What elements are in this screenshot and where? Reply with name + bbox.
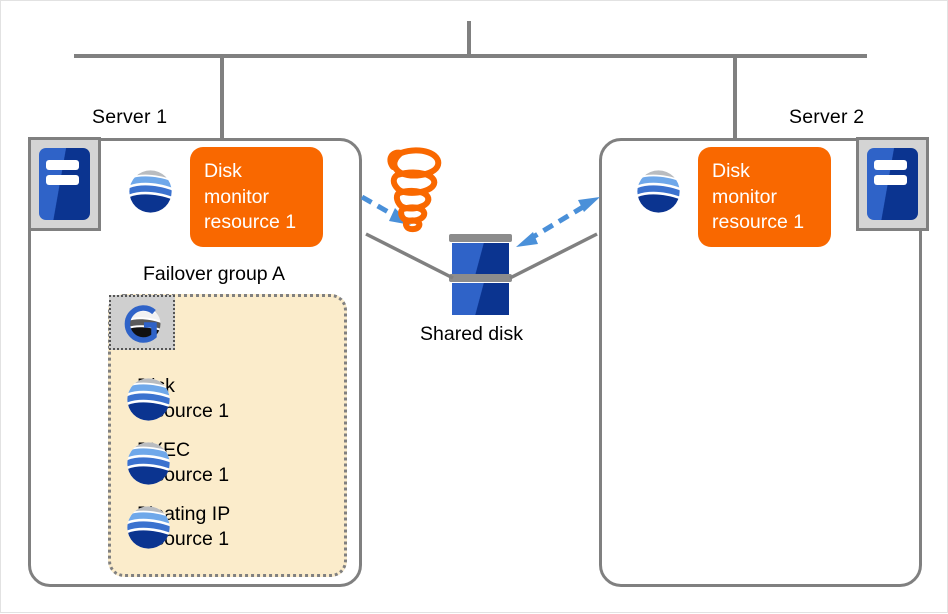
network-bus-uplink xyxy=(467,21,471,56)
disk-monitor-resource-pill[interactable]: Disk monitor resource 1 xyxy=(698,147,831,247)
globe-icon xyxy=(126,441,171,486)
server-slot-bar xyxy=(46,175,80,186)
server-1-label: Server 1 xyxy=(92,106,167,129)
list-item[interactable]: Disk resource 1 xyxy=(126,374,229,424)
globe-icon xyxy=(126,505,171,550)
server-slot-bar xyxy=(874,175,908,186)
server-slot-bar xyxy=(874,160,908,171)
access-arrow xyxy=(516,197,600,247)
disk-cable-server1 xyxy=(366,234,453,278)
server-slot-bar xyxy=(46,160,80,171)
tornado-icon xyxy=(390,150,438,229)
server-icon xyxy=(28,137,101,231)
server-2-label: Server 2 xyxy=(789,106,864,129)
failure-arrow xyxy=(362,197,411,225)
list-item[interactable]: Floating IP resource 1 xyxy=(126,502,230,552)
globe-icon xyxy=(128,169,173,214)
disk-cap xyxy=(449,234,512,242)
server-chassis xyxy=(39,148,90,220)
globe-icon xyxy=(126,377,171,422)
disk-body xyxy=(452,283,509,315)
disk-monitor-resource-pill[interactable]: Disk monitor resource 1 xyxy=(190,147,323,247)
failover-group-icon[interactable] xyxy=(109,295,175,350)
disk-cap xyxy=(449,274,512,282)
list-item[interactable]: EXEC resource 1 xyxy=(126,438,229,488)
failover-group-label: Failover group A xyxy=(143,263,285,286)
shared-disk-label: Shared disk xyxy=(420,323,523,346)
disk-body xyxy=(452,243,509,275)
disk-cable-server2 xyxy=(510,234,597,278)
server-icon xyxy=(856,137,929,231)
network-drop-server2 xyxy=(733,56,737,139)
disk-stack-icon xyxy=(449,234,512,318)
network-drop-server1 xyxy=(220,56,224,139)
server-chassis xyxy=(867,148,918,220)
diagram-canvas: Server 1 Disk monitor resource 1 Failove… xyxy=(0,0,948,613)
globe-icon xyxy=(636,169,681,214)
